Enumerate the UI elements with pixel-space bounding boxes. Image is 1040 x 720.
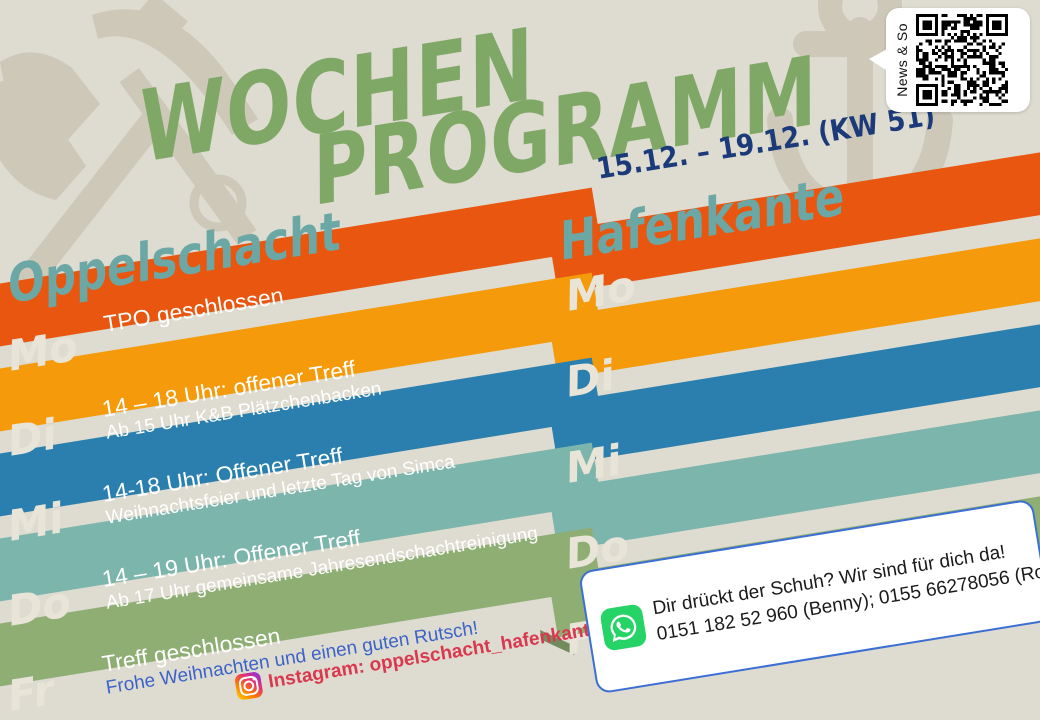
- weekly-program-poster: WOCHEN PROGRAMM 15.12. – 19.12. (KW 51) …: [0, 0, 1040, 720]
- title-line-1: WOCHEN: [140, 8, 535, 187]
- qr-bubble-label: News & So: [894, 23, 910, 97]
- qr-code-icon[interactable]: [916, 14, 1008, 106]
- date-range: 15.12. – 19.12. (KW 51): [594, 99, 937, 187]
- whatsapp-icon: [598, 602, 648, 652]
- qr-code-bubble[interactable]: News & So: [886, 8, 1030, 112]
- instagram-icon: [234, 671, 264, 701]
